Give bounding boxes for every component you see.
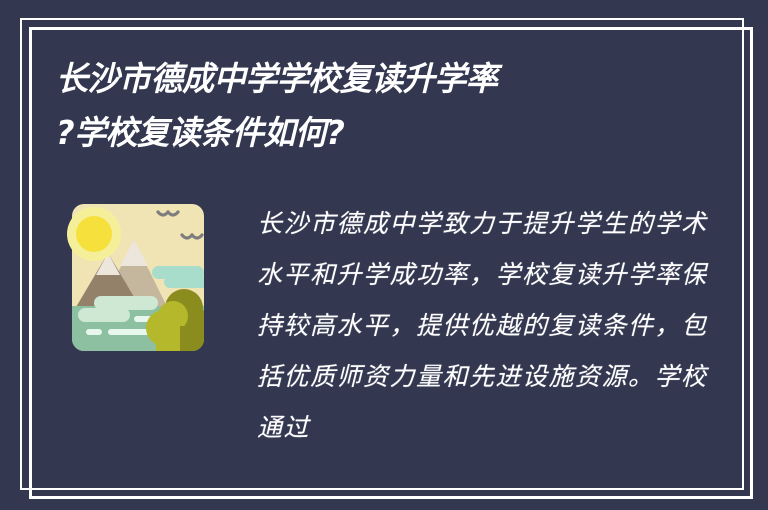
- title-line-1: 长沙市德成中学学校复读升学率: [56, 56, 677, 101]
- poster-canvas: 长沙市德成中学学校复读升学率 ?学校复读条件如何?: [0, 0, 768, 510]
- article-body-text: 长沙市德成中学致力于提升学生的学术水平和升学成功率，学校复读升学率保持较高水平，…: [257, 198, 716, 453]
- page-title: 长沙市德成中学学校复读升学率 ?学校复读条件如何?: [56, 56, 696, 155]
- title-line-2: ?学校复读条件如何?: [56, 110, 677, 155]
- content-row: 长沙市德成中学致力于提升学生的学术水平和升学成功率，学校复读升学率保持较高水平，…: [56, 198, 716, 453]
- sun-icon: [67, 207, 121, 261]
- landscape-illustration: [56, 198, 221, 360]
